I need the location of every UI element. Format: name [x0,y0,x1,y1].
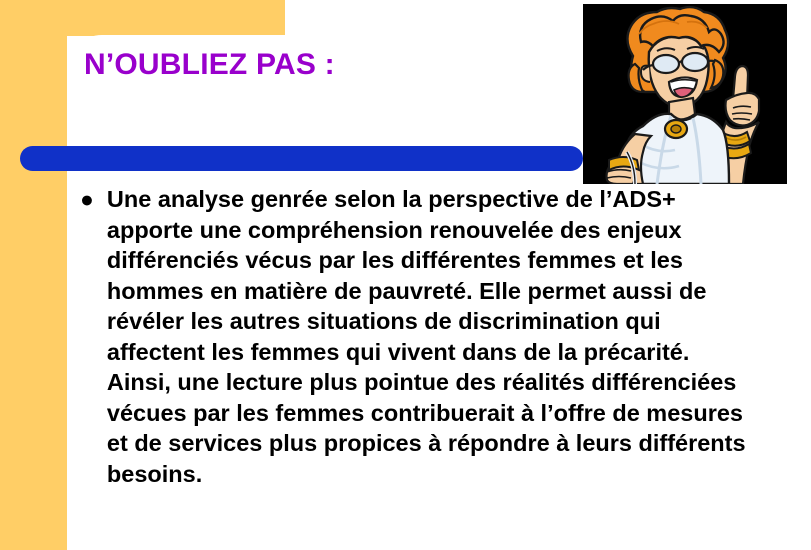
title-divider-rule [20,146,583,171]
slide: N’OUBLIEZ PAS : [0,0,811,550]
bullet-icon: ● [80,184,94,215]
body-bullet-item: ● Une analyse genrée selon la perspectiv… [80,184,780,489]
woman-pointing-up-illustration [583,4,787,184]
top-accent-band [0,0,285,36]
body-text: Une analyse genrée selon la perspective … [107,184,752,489]
page-title: N’OUBLIEZ PAS : [84,48,335,82]
left-accent-band [0,0,67,550]
